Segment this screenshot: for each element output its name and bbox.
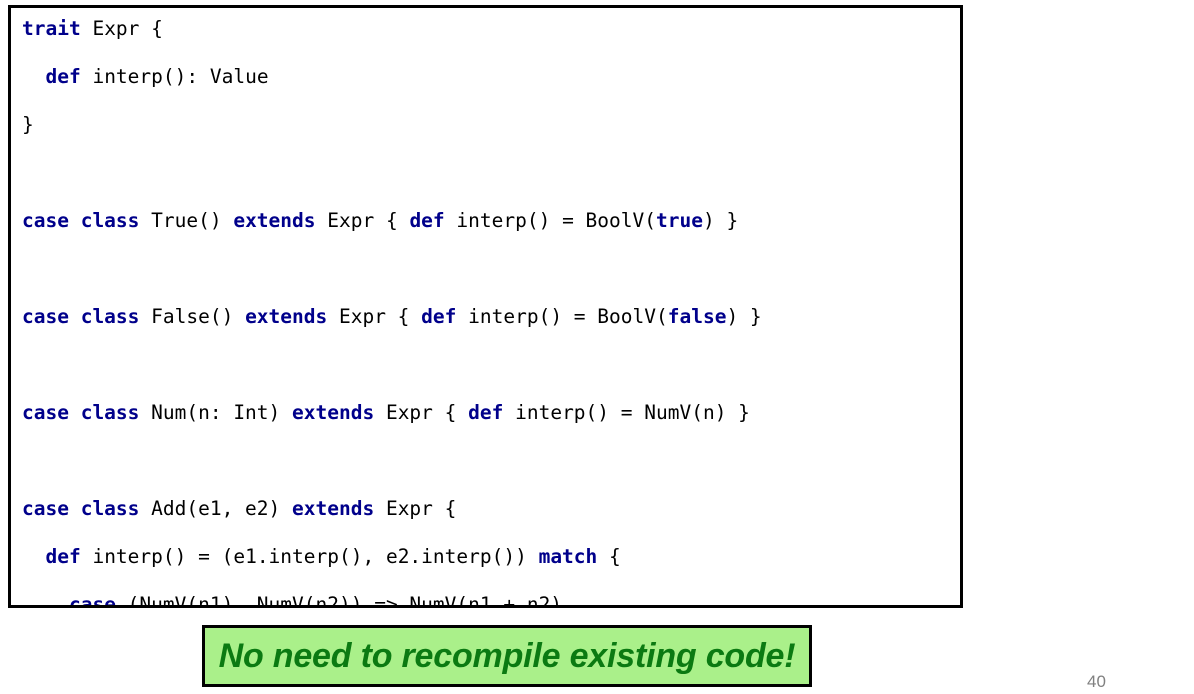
code-token-plain: Expr { <box>386 401 468 424</box>
code-token-kw: def <box>45 65 92 88</box>
code-token-plain: interp() = (e1.interp(), e2.interp()) <box>92 545 538 568</box>
code-token-kw: case class <box>22 305 151 328</box>
code-token-kw: case <box>69 593 128 608</box>
code-token-plain <box>22 65 45 88</box>
code-token-kw: trait <box>22 17 92 40</box>
code-line: case class True() extends Expr { def int… <box>22 209 891 233</box>
code-token-plain: Add(e1, e2) <box>151 497 292 520</box>
code-token-kw: def <box>421 305 468 328</box>
code-token-kw: case class <box>22 209 151 232</box>
code-token-kw: false <box>668 305 727 328</box>
code-token-plain: interp() = BoolV( <box>456 209 656 232</box>
code-token-kw: true <box>656 209 703 232</box>
code-block-panel: trait Expr { def interp(): Value } case … <box>8 5 963 608</box>
code-token-plain: interp(): Value <box>92 65 268 88</box>
code-token-kw: extends <box>292 497 386 520</box>
code-token-plain: ) } <box>726 305 761 328</box>
code-token-plain: False() <box>151 305 245 328</box>
code-token-plain <box>22 545 45 568</box>
callout-banner-text: No need to recompile existing code! <box>219 637 796 676</box>
code-token-plain <box>22 593 69 608</box>
code-line <box>22 353 891 377</box>
code-token-kw: case class <box>22 401 151 424</box>
code-line <box>22 161 891 185</box>
callout-banner: No need to recompile existing code! <box>202 625 812 687</box>
code-token-plain: { <box>609 545 621 568</box>
code-line: def interp() = (e1.interp(), e2.interp()… <box>22 545 891 569</box>
code-token-kw: case class <box>22 497 151 520</box>
code-token-plain: Expr { <box>327 209 409 232</box>
code-token-kw: def <box>468 401 515 424</box>
code-token-plain: Expr { <box>386 497 456 520</box>
code-token-plain: interp() = BoolV( <box>468 305 668 328</box>
page-number: 40 <box>1087 672 1106 692</box>
code-line: case (NumV(n1), NumV(n2)) => NumV(n1 + n… <box>22 593 891 608</box>
code-token-plain: True() <box>151 209 233 232</box>
code-token-kw: extends <box>233 209 327 232</box>
code-line: } <box>22 113 891 137</box>
code-token-plain: Expr { <box>339 305 421 328</box>
code-listing[interactable]: trait Expr { def interp(): Value } case … <box>22 17 891 608</box>
code-line: case class Num(n: Int) extends Expr { de… <box>22 401 891 425</box>
code-token-kw: def <box>409 209 456 232</box>
code-token-plain: (NumV(n1), NumV(n2)) => NumV(n1 + n2) <box>128 593 562 608</box>
code-token-plain: interp() = NumV(n) } <box>515 401 750 424</box>
code-token-kw: match <box>539 545 609 568</box>
code-line: def interp(): Value <box>22 65 891 89</box>
code-line: case class False() extends Expr { def in… <box>22 305 891 329</box>
code-token-plain: Expr { <box>92 17 162 40</box>
code-token-plain: } <box>22 113 34 136</box>
code-token-plain: ) } <box>703 209 738 232</box>
code-line <box>22 257 891 281</box>
code-token-kw: def <box>45 545 92 568</box>
code-token-kw: extends <box>292 401 386 424</box>
code-token-plain: Num(n: Int) <box>151 401 292 424</box>
code-line <box>22 449 891 473</box>
code-token-kw: extends <box>245 305 339 328</box>
code-line: case class Add(e1, e2) extends Expr { <box>22 497 891 521</box>
code-line: trait Expr { <box>22 17 891 41</box>
